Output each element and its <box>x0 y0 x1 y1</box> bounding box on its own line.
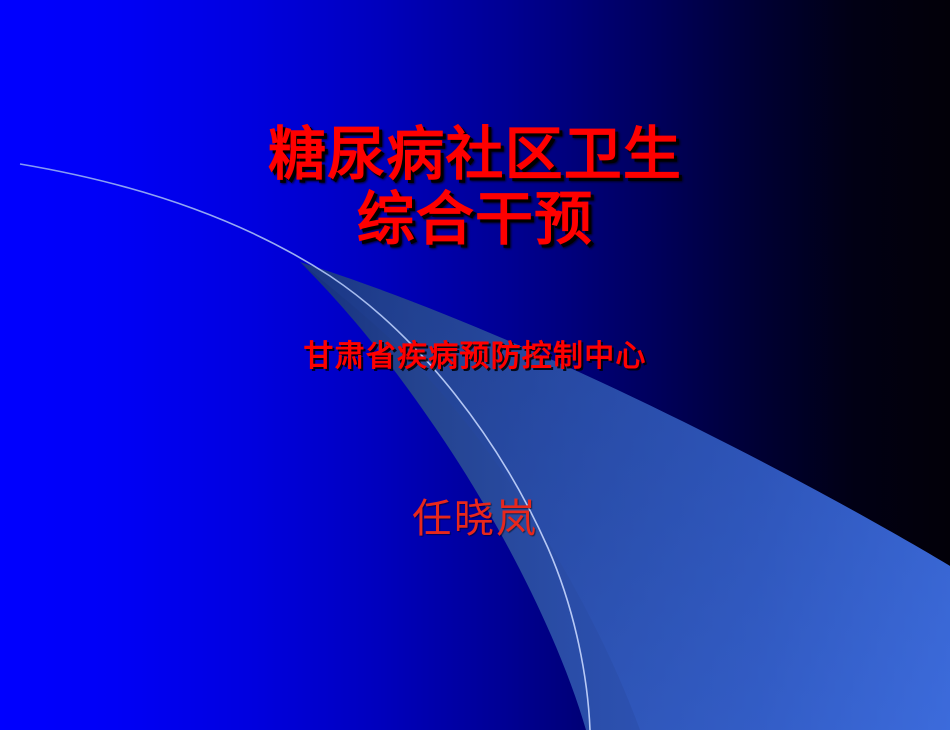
title-slide: 糖尿病社区卫生 综合干预 甘肃省疾病预防控制中心 任晓岚 <box>0 0 950 730</box>
slide-text-layer: 糖尿病社区卫生 综合干预 甘肃省疾病预防控制中心 任晓岚 <box>0 0 950 730</box>
slide-author: 任晓岚 <box>0 497 950 542</box>
slide-organization: 甘肃省疾病预防控制中心 <box>0 340 950 374</box>
slide-title: 糖尿病社区卫生 综合干预 <box>0 122 950 252</box>
